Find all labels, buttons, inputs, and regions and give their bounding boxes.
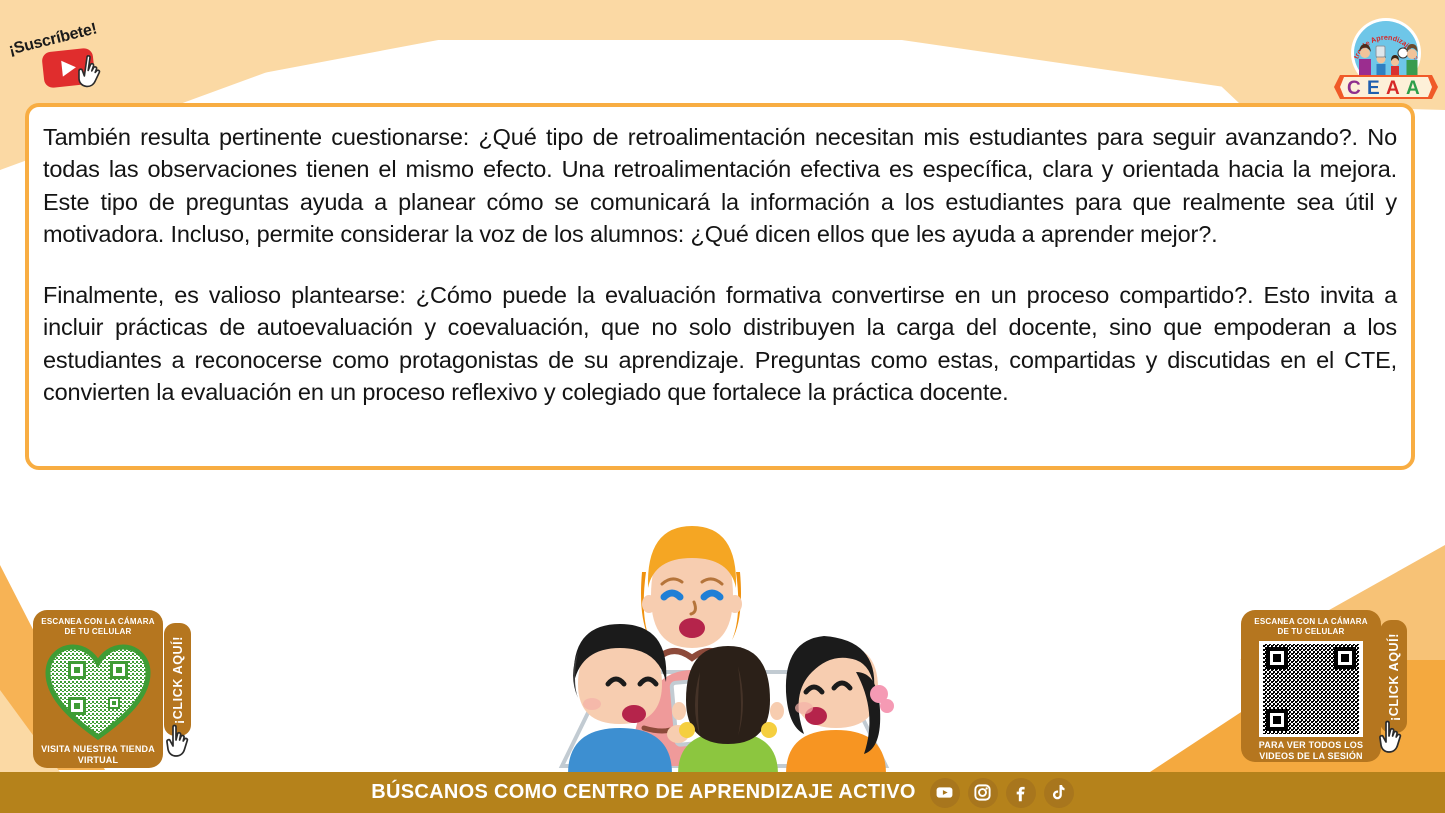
square-qr-code[interactable] [1259,641,1363,737]
youtube-icon[interactable] [930,778,960,808]
logo-letter-e: E [1367,78,1380,99]
pointer-hand-icon [74,52,111,92]
heart-qr-code[interactable] [44,641,152,741]
ceaa-logo: Centro de Aprendizaje Activo [1334,13,1438,101]
paragraph-2: Finalmente, es valioso plantearse: ¿Cómo… [43,279,1397,409]
slide-canvas: ¡Suscríbete! Centro de Aprendizaje Activ… [0,0,1445,813]
pointer-hand-icon-right [1376,718,1410,756]
footer-bar: BÚSCANOS COMO CENTRO DE APRENDIZAJE ACTI… [0,772,1445,813]
footer-text: BÚSCANOS COMO CENTRO DE APRENDIZAJE ACTI… [371,781,915,804]
qr-card-videos[interactable]: ESCANEA CON LA CÁMARA DE TU CELULAR PARA… [1241,610,1381,762]
subscribe-badge[interactable]: ¡Suscríbete! [6,14,126,86]
qr-card-videos-footer: PARA VER TODOS LOS VIDEOS DE LA SESIÓN [1249,740,1373,762]
social-links [930,778,1074,808]
click-here-label-left: ¡CLICK AQUÍ! [171,636,185,724]
qr-card-videos-header: ESCANEA CON LA CÁMARA DE TU CELULAR [1249,617,1373,637]
pointer-hand-icon-left [163,722,197,760]
paragraph-1: También resulta pertinente cuestionarse:… [43,121,1397,251]
classroom-illustration [548,476,900,774]
logo-letter-c: C [1347,78,1361,99]
logo-letter-a2: A [1406,78,1420,99]
click-here-tab-left[interactable]: ¡CLICK AQUÍ! [164,623,191,736]
click-here-label-right: ¡CLICK AQUÍ! [1387,633,1401,721]
facebook-icon[interactable] [1006,778,1036,808]
tiktok-icon[interactable] [1044,778,1074,808]
click-here-tab-right[interactable]: ¡CLICK AQUÍ! [1380,620,1407,733]
logo-letter-a1: A [1386,78,1400,99]
qr-card-store[interactable]: ESCANEA CON LA CÁMARA DE TU CELULAR [33,610,163,768]
qr-card-store-header: ESCANEA CON LA CÁMARA DE TU CELULAR [39,617,157,637]
instagram-icon[interactable] [968,778,998,808]
content-panel: También resulta pertinente cuestionarse:… [25,103,1415,470]
qr-card-store-footer: VISITA NUESTRA TIENDA VIRTUAL [39,744,157,766]
